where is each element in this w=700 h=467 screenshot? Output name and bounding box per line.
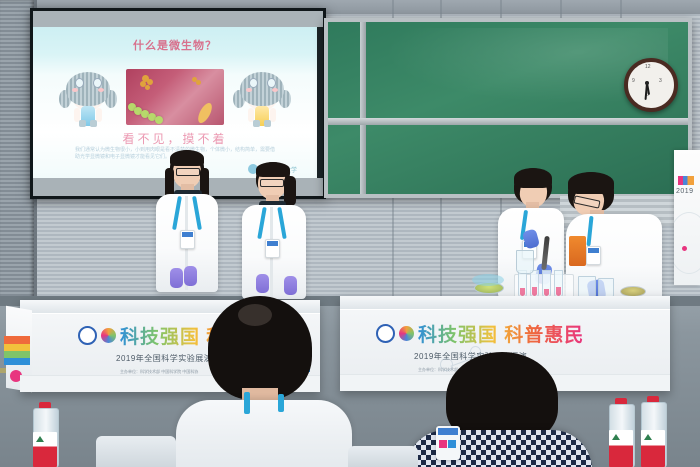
bottle-logo-icon — [612, 434, 620, 440]
slide-title: 什么是微生物？ — [33, 37, 317, 53]
orange-container — [569, 236, 586, 266]
polka-dot-top — [406, 430, 592, 467]
organizer-seal-icon — [376, 324, 395, 343]
organizer-emblem-icon — [101, 328, 116, 343]
bottle-right-2 — [636, 396, 670, 467]
presenter-left-2 — [236, 162, 314, 312]
glove-left — [256, 274, 269, 293]
fringe — [568, 172, 614, 194]
bottle-left — [28, 402, 62, 467]
id-badge — [180, 230, 195, 249]
glove-left — [170, 268, 183, 288]
petri-lid — [472, 274, 504, 286]
slide-image-row — [57, 67, 293, 127]
presenter-left-1 — [148, 150, 226, 310]
event-banner-stand: 2019 — [674, 150, 700, 285]
chair-back — [96, 436, 176, 467]
cartoon-girl-yellow-icon — [231, 68, 293, 126]
glasses-icon — [176, 168, 200, 176]
bottle-logo-icon — [644, 434, 652, 440]
table-top-right — [340, 296, 670, 309]
chair-back — [348, 446, 418, 467]
fringe — [514, 168, 552, 188]
test-tube — [542, 270, 551, 298]
lanyard — [278, 394, 284, 412]
lanyard — [244, 392, 250, 414]
chalkboard-divider — [360, 22, 366, 194]
glove-right — [184, 266, 197, 286]
erlenmeyer-flask — [516, 250, 534, 274]
test-tube — [530, 270, 539, 298]
test-tube — [518, 270, 527, 298]
cartoon-girl-blue-icon — [57, 68, 119, 126]
fringe — [170, 150, 204, 166]
organizer-seal-icon — [78, 326, 97, 345]
banner-logo-mark — [678, 176, 694, 185]
classroom-scene-photo: 什么是微生物？ — [0, 0, 700, 467]
clock-center-pin — [645, 81, 649, 85]
banner-dot-graphic — [682, 246, 687, 251]
glove-right — [284, 276, 297, 295]
wall-panel-left — [0, 0, 34, 300]
wall-clock: 12 3 6 9 — [624, 58, 678, 112]
banner-curve-graphic — [674, 212, 700, 274]
audience-front-left — [186, 296, 336, 467]
chalkboard-sheen — [368, 28, 668, 108]
shirt-back — [176, 400, 352, 467]
id-badge — [436, 426, 460, 460]
id-badge — [586, 246, 601, 265]
screen-top-bar — [33, 11, 323, 27]
bottle-logo-icon — [36, 436, 44, 442]
fringe — [256, 162, 290, 177]
ponytail — [284, 176, 296, 206]
test-tube — [554, 270, 563, 298]
glasses-icon — [260, 179, 284, 187]
bottle-right-1 — [604, 398, 638, 467]
microscope-bacteria-image — [126, 69, 224, 125]
slide-subtitle: 看不见，摸不着 — [33, 130, 317, 147]
chalkboard-rail — [328, 118, 688, 125]
id-badge — [265, 239, 280, 258]
hair-crown — [238, 304, 272, 326]
banner-year-text: 2019 — [676, 188, 694, 195]
audience-front-right — [412, 352, 582, 467]
organizer-emblem-icon — [399, 326, 414, 341]
